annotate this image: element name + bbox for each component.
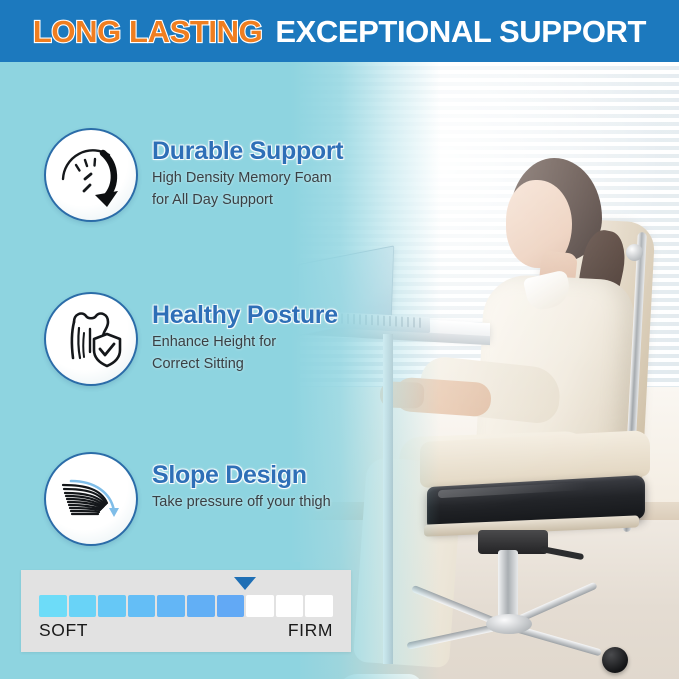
firmness-segment[interactable] [246, 595, 274, 617]
firmness-segment[interactable] [157, 595, 185, 617]
chair-base-hub [486, 614, 532, 634]
gauge-arrow-icon [44, 128, 138, 222]
banner-highlight-text: LONG LASTING [33, 16, 262, 47]
desk-leg [383, 334, 393, 664]
person-shoe [336, 674, 422, 679]
firm-label: FIRM [288, 620, 333, 641]
feature-text-block: Durable Support High Density Memory Foam… [152, 128, 343, 212]
firmness-labels: SOFT FIRM [39, 620, 333, 641]
firmness-segment[interactable] [187, 595, 215, 617]
firmness-segment[interactable] [39, 595, 67, 617]
feature-text-block: Healthy Posture Enhance Height for Corre… [152, 292, 338, 376]
firmness-segment[interactable] [276, 595, 304, 617]
feature-durable-support: Durable Support High Density Memory Foam… [44, 128, 343, 222]
feature-slope-design: Slope Design Take pressure off your thig… [44, 452, 331, 546]
feature-title: Durable Support [152, 138, 343, 165]
soft-label: SOFT [39, 620, 88, 641]
firmness-segment[interactable] [98, 595, 126, 617]
firmness-marker [234, 577, 256, 590]
slope-arrow-icon [44, 452, 138, 546]
firmness-segment[interactable] [305, 595, 333, 617]
chair-gas-cylinder [498, 550, 518, 622]
chair-caster [602, 647, 628, 673]
header-banner: LONG LASTING EXCEPTIONAL SUPPORT [0, 0, 679, 62]
firmness-segment[interactable] [217, 595, 245, 617]
feature-title: Healthy Posture [152, 302, 338, 329]
banner-main-text: EXCEPTIONAL SUPPORT [275, 16, 646, 47]
infographic-canvas: LONG LASTING EXCEPTIONAL SUPPORT Durable… [0, 0, 679, 679]
firmness-segments [39, 595, 333, 617]
feature-subtitle-line: Correct Sitting [152, 354, 338, 376]
feature-subtitle-line: Enhance Height for [152, 332, 338, 354]
firmness-segment[interactable] [69, 595, 97, 617]
feature-subtitle-line: for All Day Support [152, 190, 343, 212]
feature-subtitle-line: High Density Memory Foam [152, 168, 343, 190]
firmness-scale-panel: SOFT FIRM [21, 570, 351, 652]
posture-shield-icon [44, 292, 138, 386]
feature-title: Slope Design [152, 462, 331, 489]
firmness-segment[interactable] [128, 595, 156, 617]
feature-text-block: Slope Design Take pressure off your thig… [152, 452, 331, 514]
feature-subtitle-line: Take pressure off your thigh [152, 492, 331, 514]
chair-knob [626, 244, 643, 261]
feature-healthy-posture: Healthy Posture Enhance Height for Corre… [44, 292, 338, 386]
